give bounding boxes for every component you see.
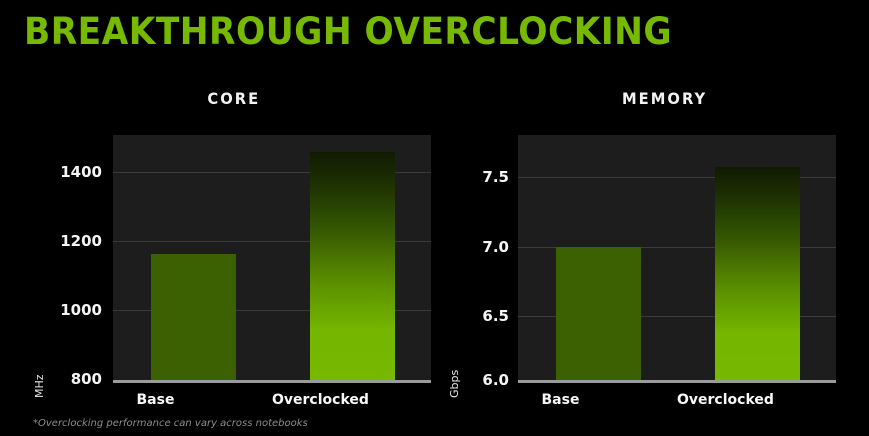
chart-memory-title: MEMORY — [457, 89, 852, 108]
chart-memory-baseline — [518, 380, 836, 383]
chart-memory-y-axis-label: Gbps — [448, 370, 461, 398]
chart-core-ytick-1000: 1000 — [44, 302, 102, 318]
bar-memory-base — [556, 247, 641, 380]
chart-memory-ytick-65: 6.5 — [455, 308, 509, 324]
chart-core-y-axis-label: MHz — [33, 374, 46, 398]
chart-core-xtick-base: Base — [113, 392, 198, 408]
chart-core-ytick-1200: 1200 — [44, 233, 102, 249]
bar-core-overclocked — [310, 152, 395, 380]
chart-core-ytick-800: 800 — [44, 371, 102, 387]
chart-memory-ytick-75: 7.5 — [455, 169, 509, 185]
chart-core-plot-area — [113, 135, 431, 380]
chart-core-baseline — [113, 380, 431, 383]
chart-core-title: CORE — [18, 89, 423, 108]
chart-core-ytick-1400: 1400 — [44, 164, 102, 180]
chart-memory-ytick-60: 6.0 — [455, 372, 509, 388]
bar-memory-overclocked — [715, 167, 800, 380]
chart-memory-ytick-70: 7.0 — [455, 239, 509, 255]
bar-core-base — [151, 254, 236, 380]
chart-core-xtick-overclocked: Overclocked — [272, 392, 357, 408]
chart-memory-xtick-overclocked: Overclocked — [677, 392, 762, 408]
chart-memory-plot-area — [518, 135, 836, 380]
footnote: *Overclocking performance can vary acros… — [33, 418, 308, 429]
chart-core: CORE 1400 1200 1000 800 MHz Base Overclo… — [0, 0, 440, 436]
chart-memory-xtick-base: Base — [518, 392, 603, 408]
